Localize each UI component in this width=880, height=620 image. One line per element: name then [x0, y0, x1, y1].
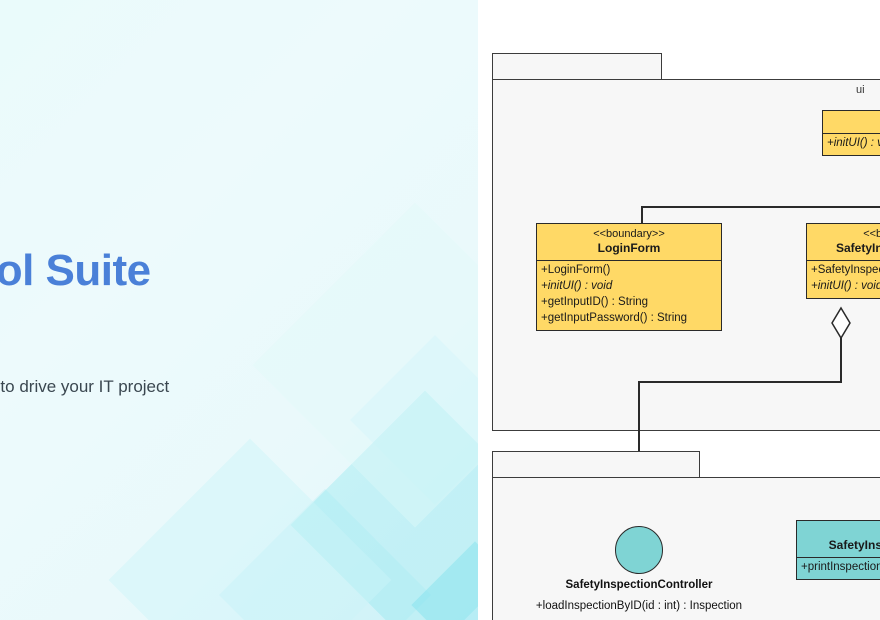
uml-class-safetyinspectionform-stereotype: <<boundary>> — [813, 227, 880, 241]
uml-class-loginform-name: LoginForm — [543, 241, 715, 256]
hero-body-text: anagement tools to drive your IT project… — [0, 372, 470, 432]
decorative-diamond — [219, 489, 431, 620]
uml-operation: +initUI() : void — [811, 279, 880, 295]
uml-class-loginform[interactable]: <<boundary>> LoginForm +LoginForm() +ini… — [536, 223, 722, 331]
uml-class-form[interactable]: Form +initUI() : void — [822, 110, 880, 156]
package-ui-label: ui — [856, 84, 865, 96]
uml-class-safetyinspectionreport[interactable]: SafetyInspectionReport +printInspectionR… — [796, 520, 880, 580]
uml-canvas[interactable]: ui Form +initUI() : void <<boundary>> Lo… — [478, 0, 880, 620]
uml-controller-operation: +loadInspectionByID(id : int) : Inspecti… — [489, 600, 789, 612]
hero-body-line-1: anagement tools to drive your IT project — [0, 377, 169, 396]
uml-class-loginform-header: <<boundary>> LoginForm — [537, 224, 721, 261]
uml-class-safetyinspectionreport-header: SafetyInspectionReport — [797, 521, 880, 558]
package-ui-tab — [492, 53, 662, 79]
generalization-branch-loginform — [641, 206, 643, 224]
uml-operation: +getInputID() : String — [541, 295, 717, 311]
uml-class-safetyinspectionreport-stereotype — [803, 524, 880, 538]
uml-operation: +LoginForm() — [541, 263, 717, 279]
package-controller-tab — [492, 451, 700, 477]
uml-class-safetyinspectionform-name: SafetyInspectionForm — [813, 241, 880, 256]
uml-class-form-name: Form — [829, 114, 880, 129]
aggregation-elbow — [638, 381, 842, 383]
uml-diagram-panel[interactable]: ui Form +initUI() : void <<boundary>> Lo… — [478, 0, 880, 620]
uml-class-form-operations: +initUI() : void — [823, 134, 880, 155]
uml-operation: +getInputPassword() : String — [541, 311, 717, 327]
page-title: ent Tool Suite — [0, 248, 470, 294]
decorative-diamond — [109, 439, 392, 620]
uml-class-form-header: Form — [823, 111, 880, 134]
hero-panel: ent Tool Suite uccess anagement tools to… — [0, 0, 478, 620]
uml-class-safetyinspectionform-operations: +SafetyInspectionForm() +initUI() : void — [807, 261, 880, 298]
uml-operation: +printInspectionReport() : void — [801, 560, 880, 576]
hero-content: ent Tool Suite uccess anagement tools to… — [0, 248, 470, 432]
uml-class-loginform-stereotype: <<boundary>> — [543, 227, 715, 241]
uml-controller-circle[interactable] — [615, 526, 663, 574]
uml-class-safetyinspectionreport-operations: +printInspectionReport() : void — [797, 558, 880, 579]
uml-class-loginform-operations: +LoginForm() +initUI() : void +getInputI… — [537, 261, 721, 329]
uml-operation: +initUI() : void — [541, 279, 717, 295]
uml-controller-name: SafetyInspectionController — [489, 579, 789, 591]
uml-operation: +SafetyInspectionForm() — [811, 263, 880, 279]
generalization-crossbar — [641, 206, 880, 208]
aggregation-diamond-icon — [828, 306, 854, 340]
page-subtitle: uccess — [0, 314, 470, 340]
uml-operation: +initUI() : void — [827, 136, 880, 152]
aggregation-stem — [840, 338, 842, 382]
generalization-triangle-icon — [876, 167, 880, 189]
uml-class-safetyinspectionreport-name: SafetyInspectionReport — [803, 538, 880, 553]
uml-class-safetyinspectionform[interactable]: <<boundary>> SafetyInspectionForm +Safet… — [806, 223, 880, 299]
uml-class-safetyinspectionform-header: <<boundary>> SafetyInspectionForm — [807, 224, 880, 261]
decorative-diamond — [411, 541, 478, 620]
